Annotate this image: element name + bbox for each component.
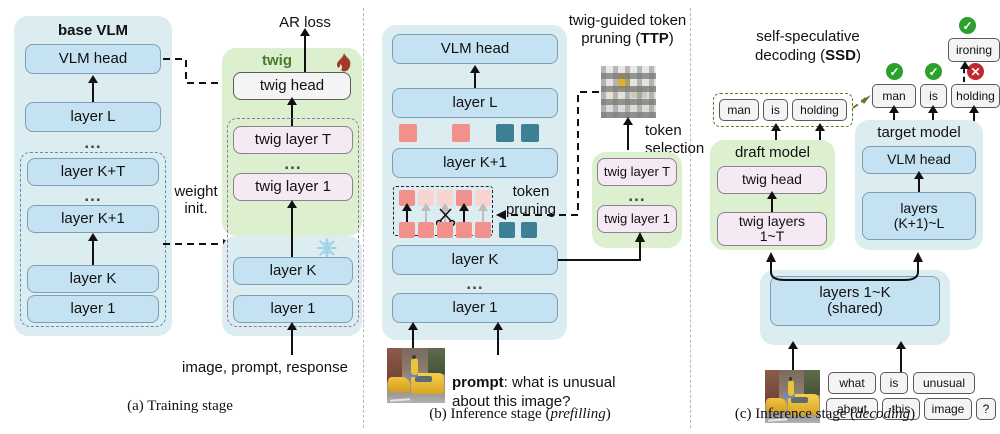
panel-c-prompt-token-unusual: unusual <box>913 372 975 394</box>
panel-c-caption-suffix: ) <box>910 406 915 422</box>
panel-c-prompt-token-question: ? <box>976 398 996 420</box>
panel-c-shared-split-connectors <box>0 0 1000 434</box>
panel-c-arrow-prompt-to-shared <box>900 348 902 372</box>
panel-c-caption-prefix: (c) <box>735 406 755 422</box>
panel-c-arrow-image-to-shared <box>792 348 794 372</box>
panel-c-caption: (c) Inference stage (decoding) <box>700 406 950 423</box>
panel-c-prompt-token-is: is <box>880 372 908 394</box>
figure-canvas: base VLM VLM head layer L ... layer K+T … <box>0 0 1000 434</box>
panel-c-caption-main: Inference stage ( <box>755 406 855 422</box>
panel-c-prompt-token-what: what <box>828 372 876 394</box>
panel-c-caption-italic: decoding <box>855 406 910 422</box>
